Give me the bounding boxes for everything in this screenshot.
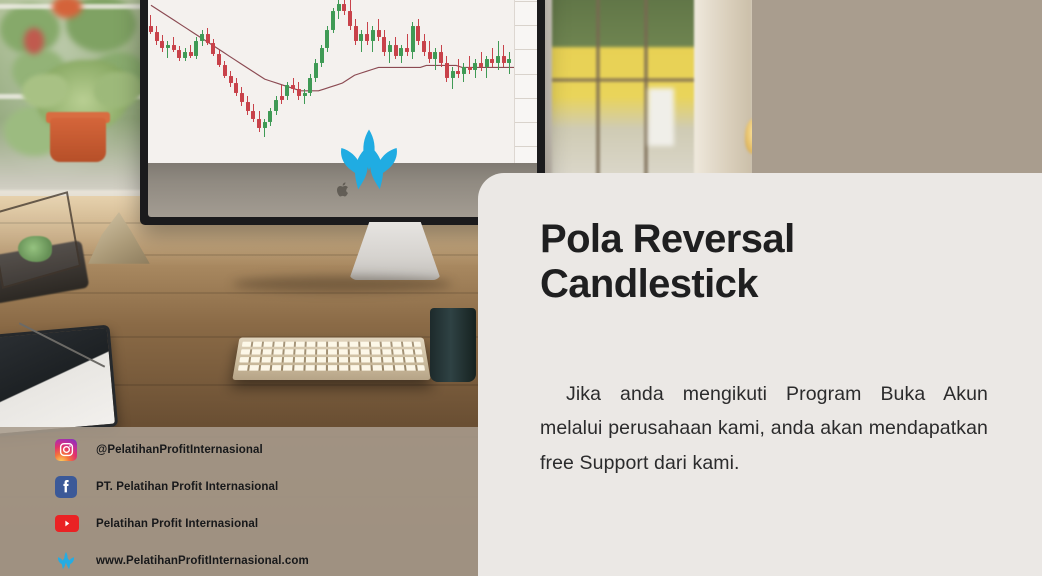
desk-mug bbox=[430, 308, 476, 382]
candlestick-bar bbox=[507, 0, 511, 163]
candlestick-bar bbox=[303, 0, 307, 163]
social-footer: @PelatihanProfitInternasional PT. Pelati… bbox=[0, 427, 478, 576]
candlestick-bar bbox=[268, 0, 272, 163]
candlestick-bar bbox=[308, 0, 312, 163]
candlestick-bar bbox=[280, 0, 284, 163]
facebook-page-name: PT. Pelatihan Profit Internasional bbox=[96, 481, 278, 493]
candlestick-bar bbox=[177, 0, 181, 163]
candlestick-bar bbox=[490, 0, 494, 163]
candlestick-bar bbox=[291, 0, 295, 163]
candlestick-bar bbox=[479, 0, 483, 163]
instagram-icon[interactable] bbox=[55, 439, 77, 461]
candlestick-bar bbox=[257, 0, 261, 163]
candlestick-bar bbox=[320, 0, 324, 163]
right-wall bbox=[752, 0, 790, 200]
candlestick-bar bbox=[456, 0, 460, 163]
candlestick-bar bbox=[251, 0, 255, 163]
candlestick-bar bbox=[200, 0, 204, 163]
candlestick-bar bbox=[234, 0, 238, 163]
candlestick-bar bbox=[496, 0, 500, 163]
price-axis bbox=[514, 0, 537, 163]
candlestick-bar bbox=[263, 0, 267, 163]
candlestick-bar bbox=[485, 0, 489, 163]
candlestick-bar bbox=[416, 0, 420, 163]
candlestick-bar bbox=[468, 0, 472, 163]
candlestick-bar bbox=[217, 0, 221, 163]
lotus-logo-icon bbox=[330, 128, 408, 194]
candlestick-bar bbox=[160, 0, 164, 163]
candlestick-bar bbox=[462, 0, 466, 163]
candlestick-bar bbox=[422, 0, 426, 163]
candlestick-bar bbox=[445, 0, 449, 163]
body-paragraph: Jika anda mengikuti Program Buka Akun me… bbox=[540, 377, 988, 481]
social-row-facebook[interactable]: PT. Pelatihan Profit Internasional bbox=[0, 468, 478, 505]
flower-pot bbox=[50, 118, 106, 162]
page-title: Pola Reversal Candlestick bbox=[540, 217, 988, 307]
keyboard bbox=[232, 338, 430, 380]
candlestick-bar bbox=[314, 0, 318, 163]
candlestick-bar bbox=[411, 0, 415, 163]
social-row-website[interactable]: www.PelatihanProfitInternasional.com bbox=[0, 542, 478, 576]
candlestick-bar bbox=[285, 0, 289, 163]
candlestick-bar bbox=[229, 0, 233, 163]
candlestick-bar bbox=[172, 0, 176, 163]
candlestick-bar bbox=[211, 0, 215, 163]
candlestick-bar bbox=[194, 0, 198, 163]
facebook-icon[interactable] bbox=[55, 476, 77, 498]
lotus-logo-icon[interactable] bbox=[55, 550, 77, 572]
curtain bbox=[694, 0, 752, 200]
website-url: www.PelatihanProfitInternasional.com bbox=[96, 555, 309, 567]
candlestick-bar bbox=[206, 0, 210, 163]
candlestick-bar bbox=[189, 0, 193, 163]
content-card: Pola Reversal Candlestick Jika anda meng… bbox=[478, 173, 1042, 576]
candlestick-bar bbox=[297, 0, 301, 163]
right-window bbox=[552, 0, 702, 182]
candlestick-bar bbox=[149, 0, 153, 163]
candlestick-bar bbox=[428, 0, 432, 163]
candlestick-bar bbox=[451, 0, 455, 163]
candlestick-bar bbox=[439, 0, 443, 163]
slide-canvas: @PelatihanProfitInternasional PT. Pelati… bbox=[0, 0, 1042, 576]
monitor-shadow bbox=[232, 276, 452, 292]
social-row-instagram[interactable]: @PelatihanProfitInternasional bbox=[0, 431, 478, 468]
youtube-icon[interactable] bbox=[55, 515, 79, 532]
candlestick-bar bbox=[433, 0, 437, 163]
social-row-youtube[interactable]: Pelatihan Profit Internasional bbox=[0, 505, 478, 542]
candlestick-bar bbox=[502, 0, 506, 163]
candlestick-bar bbox=[155, 0, 159, 163]
candlestick-bar bbox=[223, 0, 227, 163]
candlestick-bar bbox=[240, 0, 244, 163]
instagram-handle: @PelatihanProfitInternasional bbox=[96, 444, 263, 456]
candlestick-bar bbox=[183, 0, 187, 163]
candlestick-bar bbox=[166, 0, 170, 163]
candlestick-bar bbox=[246, 0, 250, 163]
candlestick-bar bbox=[473, 0, 477, 163]
candlestick-bar bbox=[325, 0, 329, 163]
candlestick-bar bbox=[274, 0, 278, 163]
youtube-channel-name: Pelatihan Profit Internasional bbox=[96, 518, 258, 530]
